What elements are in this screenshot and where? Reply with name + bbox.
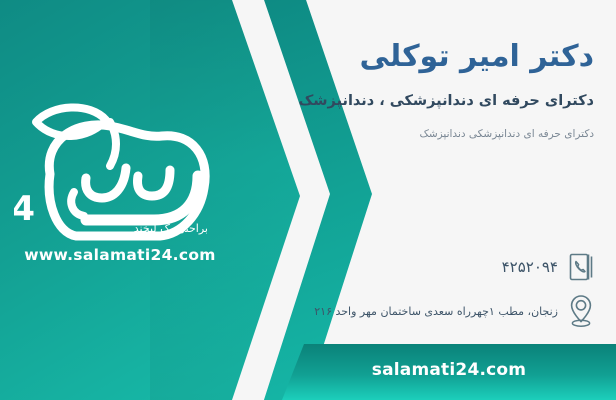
contact-phone-row[interactable]: ۴۲۵۲۰۹۴ xyxy=(502,248,598,286)
logo-24-badge: 24 xyxy=(14,189,34,229)
phone-number: ۴۲۵۲۰۹۴ xyxy=(502,258,564,276)
apple-stem-icon xyxy=(110,122,116,166)
svg-text:24: 24 xyxy=(14,189,34,229)
contact-address-row[interactable]: زنجان، مطب ۱چهرراه سعدی ساختمان مهر واحد… xyxy=(314,292,598,330)
wordmark-letter-alef-lam xyxy=(86,168,126,198)
salamati24-logo: 24 براحتی یک لبخند www.salamati24.com xyxy=(14,96,226,276)
footer-bar: salamati24.com xyxy=(282,344,616,400)
logo-url: www.salamati24.com xyxy=(14,246,226,264)
doctor-specialty: دکترای حرفه ای دندانپزشکی ، دندانپزشک xyxy=(174,92,594,111)
phone-book-icon xyxy=(564,248,598,286)
business-card: 24 براحتی یک لبخند www.salamati24.com دک… xyxy=(0,0,616,400)
doctor-name: دکتر امیر توکلی xyxy=(174,38,594,76)
footer-site-url[interactable]: salamati24.com xyxy=(282,360,616,380)
address-text: زنجان، مطب ۱چهرراه سعدی ساختمان مهر واحد… xyxy=(314,305,564,318)
wordmark-letter-ya xyxy=(71,192,84,216)
doctor-specialty-sub: دکترای حرفه ای دندانپزشکی دندانپزشک xyxy=(174,128,594,142)
wordmark-letter-meem xyxy=(138,170,170,196)
map-pin-icon xyxy=(564,292,598,330)
logo-tagline: براحتی یک لبخند xyxy=(134,222,208,235)
